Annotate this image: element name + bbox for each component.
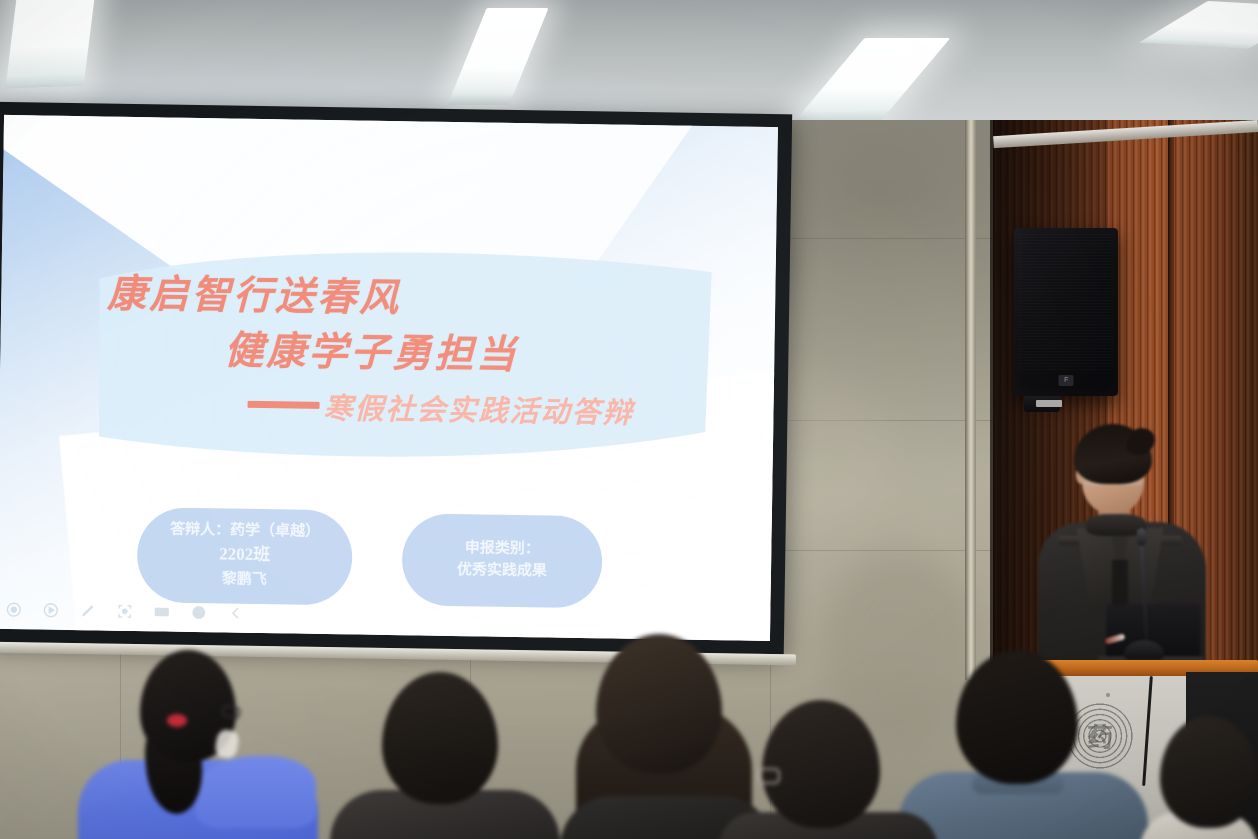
subtitles-icon[interactable] [152, 602, 171, 621]
slide-title-block: 康启智行送春风 健康学子勇担当 寒假社会实践活动答辩 [95, 266, 717, 432]
podium-emblem-character: 药 [1087, 718, 1113, 755]
powerpoint-slideshow-toolbar[interactable] [4, 600, 245, 623]
back-chevron-icon[interactable] [226, 603, 245, 622]
subtitle-dash-icon [248, 401, 320, 409]
pen-icon[interactable] [78, 601, 97, 620]
presenter-pill-line-1: 答辩人：药学（卓越） [170, 520, 320, 544]
spotlight-icon[interactable] [115, 602, 134, 621]
presenter-pill-line-2: 2202班 [219, 542, 270, 567]
microphone-capsule [1137, 528, 1146, 546]
projection-screen-frame: 康启智行送春风 健康学子勇担当 寒假社会实践活动答辩 答辩人：药学（卓越） 22… [0, 102, 792, 654]
presenter-pill-name: 黎鹏飞 [222, 570, 267, 592]
speaker-brand-badge: F [1059, 375, 1074, 386]
speaker-grille [1018, 232, 1114, 370]
slide-category-pill: 申报类别： 优秀实践成果 [401, 513, 602, 608]
slide-subtitle-row: 寒假社会实践活动答辩 [247, 384, 716, 433]
slide-subtitle: 寒假社会实践活动答辩 [323, 385, 634, 432]
slide-title-line-2: 健康学子勇担当 [224, 324, 717, 387]
category-pill-line-2: 优秀实践成果 [457, 560, 547, 583]
play-icon[interactable] [41, 601, 60, 620]
slide-title-line-1: 康启智行送春风 [107, 267, 718, 332]
more-options-icon[interactable] [189, 603, 208, 622]
ceiling-light-panel-1 [5, 0, 96, 88]
pa-speaker: F [1014, 228, 1118, 396]
record-icon[interactable] [4, 600, 23, 619]
projection-screen-surface[interactable]: 康启智行送春风 健康学子勇担当 寒假社会实践活动答辩 答辩人：药学（卓越） 22… [0, 115, 778, 641]
podium-screw [1106, 693, 1110, 697]
category-pill-line-1: 申报类别： [465, 538, 540, 561]
slide-presenter-pill: 答辩人：药学（卓越） 2202班 黎鹏飞 [136, 507, 352, 605]
speaker-label-tag [1036, 400, 1062, 407]
wall-trim-strip [965, 120, 976, 680]
lecture-hall-photo: F 康启智行送春风 健康学子勇担当 寒假社会实践活动答辩 [0, 0, 1258, 839]
